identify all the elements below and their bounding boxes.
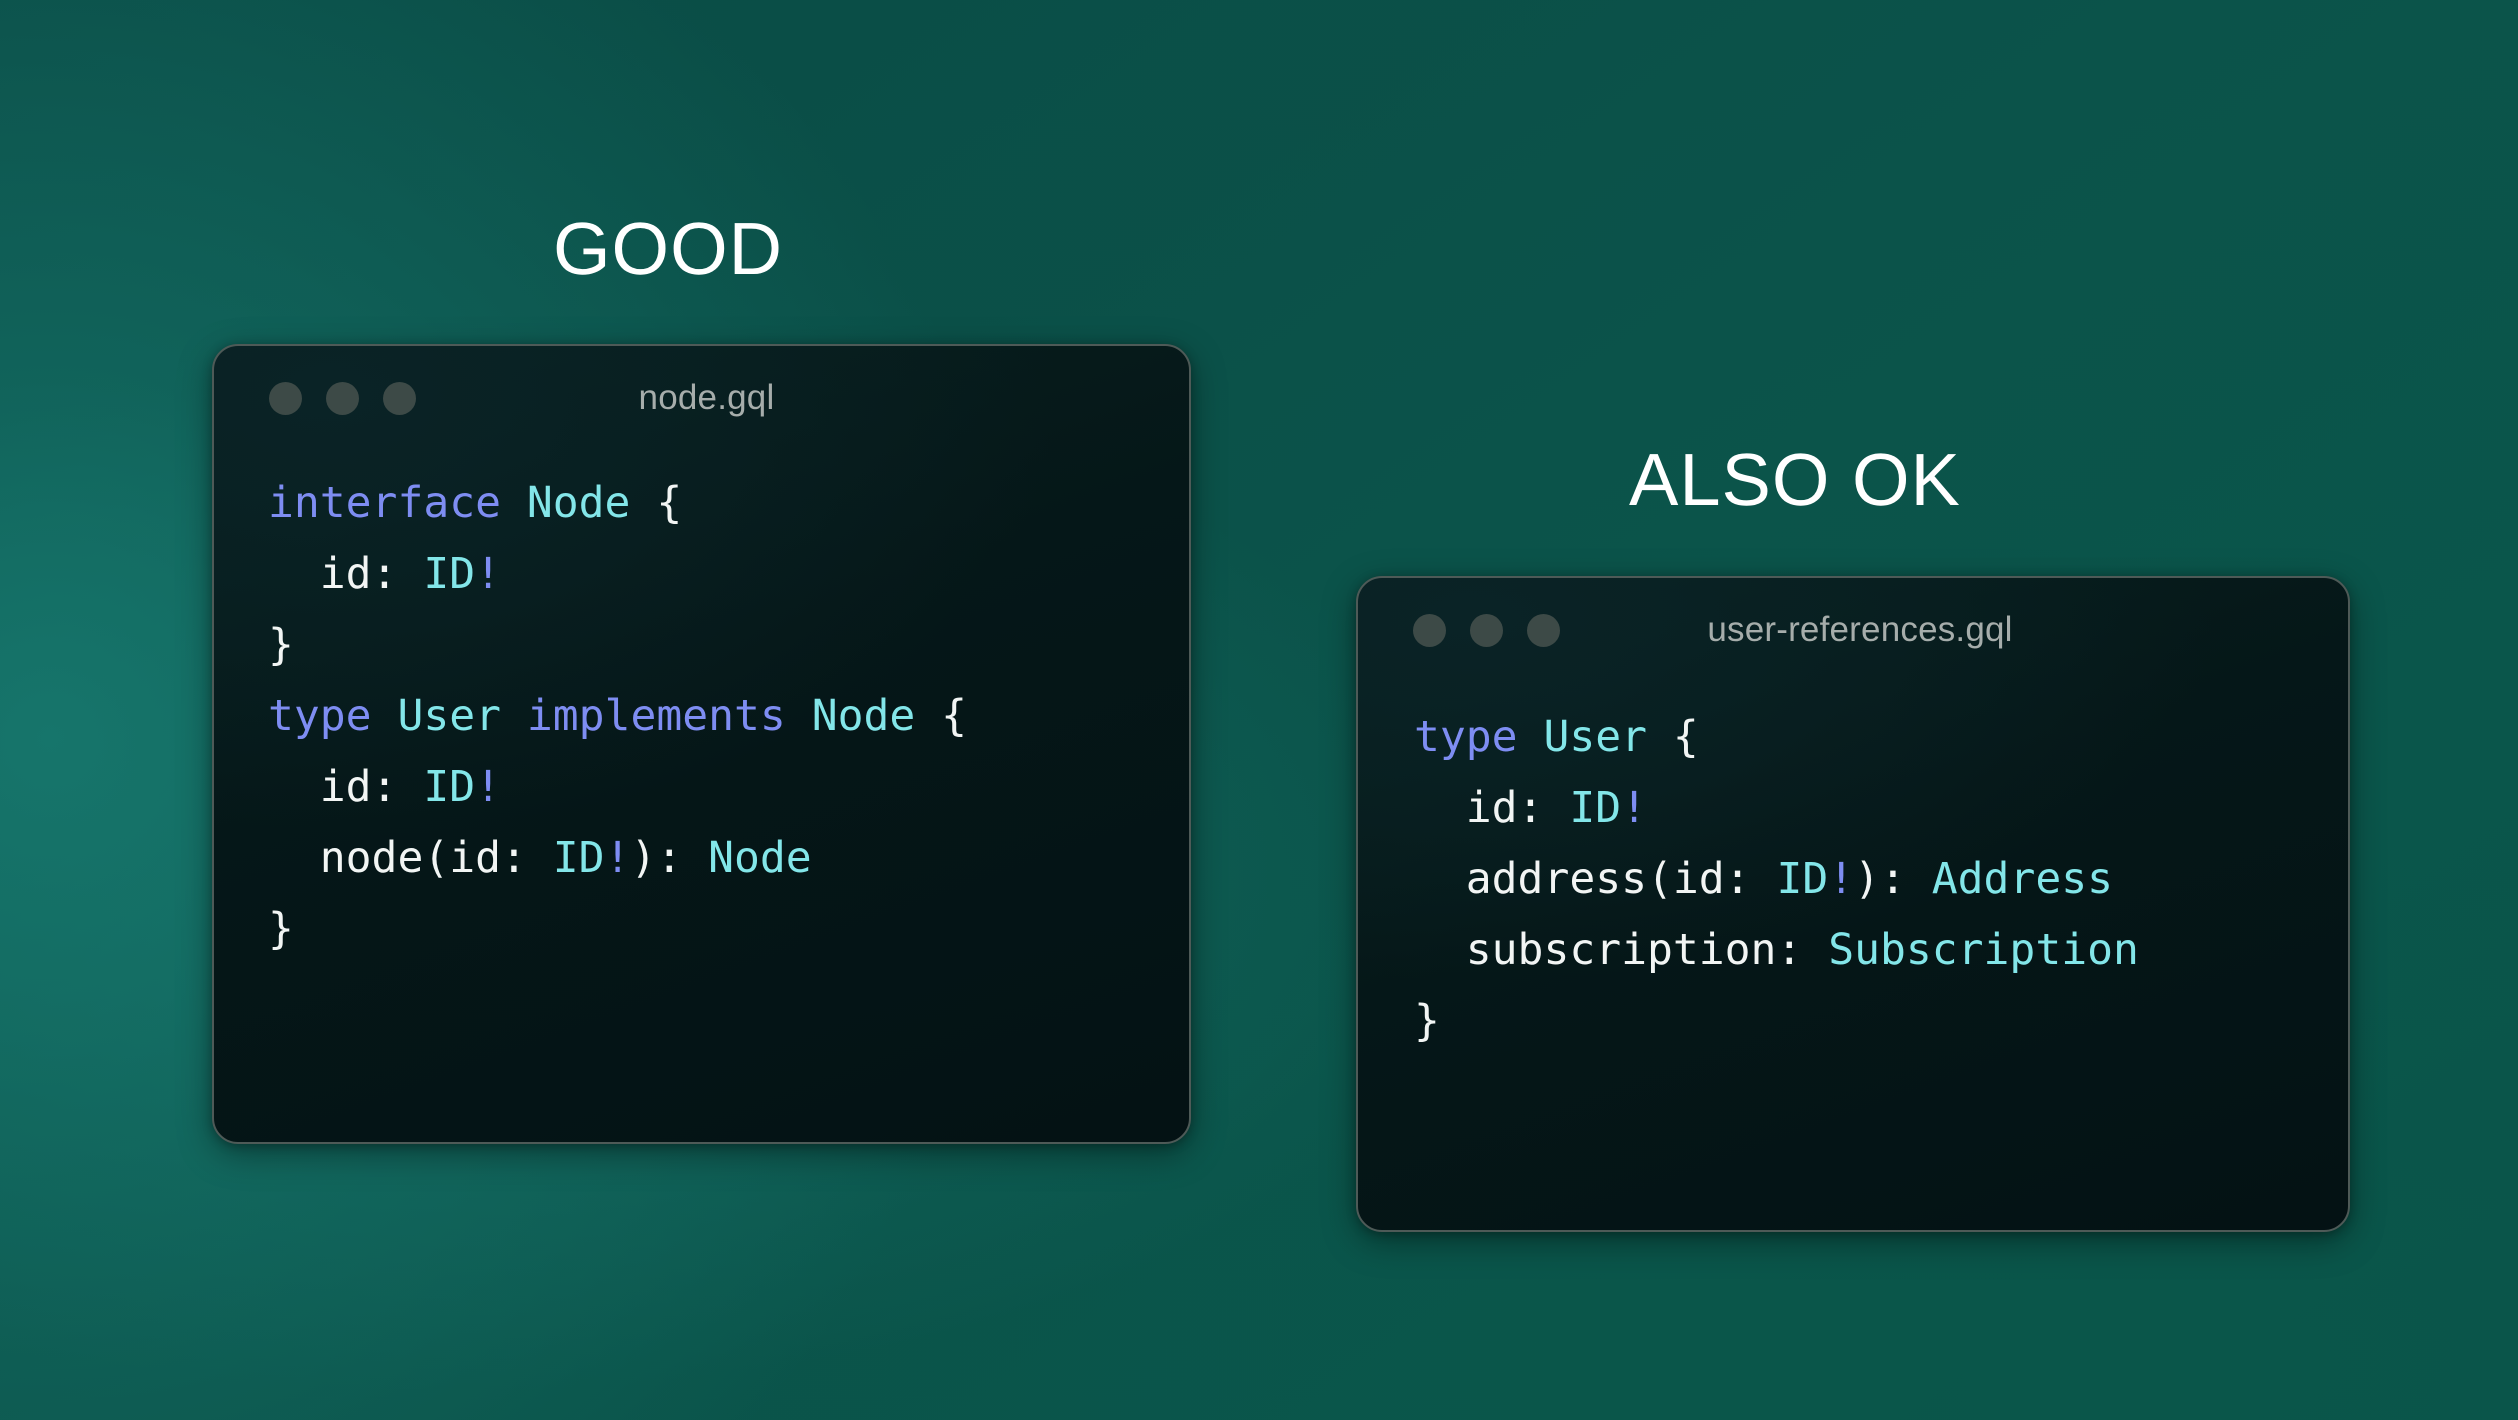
- heading-also-ok: ALSO OK: [1629, 443, 1961, 517]
- code-line: }: [268, 894, 1189, 965]
- code-token: id:: [268, 549, 423, 599]
- code-block-also-ok: type User { id: ID! address(id: ID!): Ad…: [1358, 682, 2348, 1057]
- code-token: id:: [1414, 783, 1569, 833]
- minimize-dot-icon[interactable]: [1470, 614, 1503, 647]
- code-token: [501, 478, 527, 528]
- code-token: Address: [1932, 854, 2113, 904]
- code-token: Node: [527, 478, 631, 528]
- code-token: User: [397, 691, 501, 741]
- slide-canvas: GOOD node.gql interface Node { id: ID!}t…: [0, 0, 2518, 1420]
- code-token: ID: [423, 762, 475, 812]
- code-token: !: [605, 833, 631, 883]
- code-token: address(id:: [1414, 854, 1776, 904]
- card-titlebar-good: node.gql: [214, 346, 1189, 450]
- code-token: }: [1414, 996, 1440, 1046]
- code-line: id: ID!: [1414, 773, 2348, 844]
- close-dot-icon[interactable]: [269, 382, 302, 415]
- code-token: ID: [423, 549, 475, 599]
- code-card-also-ok: user-references.gql type User { id: ID! …: [1356, 576, 2350, 1232]
- code-token: User: [1543, 712, 1647, 762]
- code-token: !: [1621, 783, 1647, 833]
- code-line: address(id: ID!): Address: [1414, 844, 2348, 915]
- code-block-good: interface Node { id: ID!}type User imple…: [214, 450, 1189, 965]
- code-line: subscription: Subscription: [1414, 915, 2348, 986]
- code-token: [1518, 712, 1544, 762]
- code-token: type: [1414, 712, 1518, 762]
- code-token: {: [915, 691, 967, 741]
- code-token: implements: [527, 691, 786, 741]
- code-token: {: [1647, 712, 1699, 762]
- code-token: }: [268, 904, 294, 954]
- code-line: }: [1414, 986, 2348, 1057]
- window-controls-also-ok: [1413, 614, 1560, 647]
- code-line: }: [268, 610, 1189, 681]
- code-card-good: node.gql interface Node { id: ID!}type U…: [212, 344, 1191, 1144]
- window-controls-good: [269, 382, 416, 415]
- card-titlebar-also-ok: user-references.gql: [1358, 578, 2348, 682]
- code-token: Node: [812, 691, 916, 741]
- code-token: ID: [1776, 854, 1828, 904]
- code-token: !: [1828, 854, 1854, 904]
- code-token: id:: [268, 762, 423, 812]
- code-token: ID: [1569, 783, 1621, 833]
- code-token: {: [630, 478, 682, 528]
- code-token: Node: [708, 833, 812, 883]
- code-token: ):: [630, 833, 708, 883]
- code-line: id: ID!: [268, 752, 1189, 823]
- code-line: node(id: ID!): Node: [268, 823, 1189, 894]
- code-token: ):: [1854, 854, 1932, 904]
- code-token: interface: [268, 478, 501, 528]
- code-line: interface Node {: [268, 468, 1189, 539]
- code-token: [372, 691, 398, 741]
- code-line: id: ID!: [268, 539, 1189, 610]
- code-token: subscription:: [1414, 925, 1828, 975]
- code-token: ID: [553, 833, 605, 883]
- maximize-dot-icon[interactable]: [1527, 614, 1560, 647]
- code-token: !: [475, 549, 501, 599]
- code-token: Subscription: [1828, 925, 2139, 975]
- minimize-dot-icon[interactable]: [326, 382, 359, 415]
- code-token: node(id:: [268, 833, 553, 883]
- code-token: !: [475, 762, 501, 812]
- heading-good: GOOD: [553, 212, 783, 286]
- close-dot-icon[interactable]: [1413, 614, 1446, 647]
- code-line: type User implements Node {: [268, 681, 1189, 752]
- code-token: type: [268, 691, 372, 741]
- code-token: }: [268, 620, 294, 670]
- code-token: [786, 691, 812, 741]
- maximize-dot-icon[interactable]: [383, 382, 416, 415]
- code-token: [501, 691, 527, 741]
- code-line: type User {: [1414, 702, 2348, 773]
